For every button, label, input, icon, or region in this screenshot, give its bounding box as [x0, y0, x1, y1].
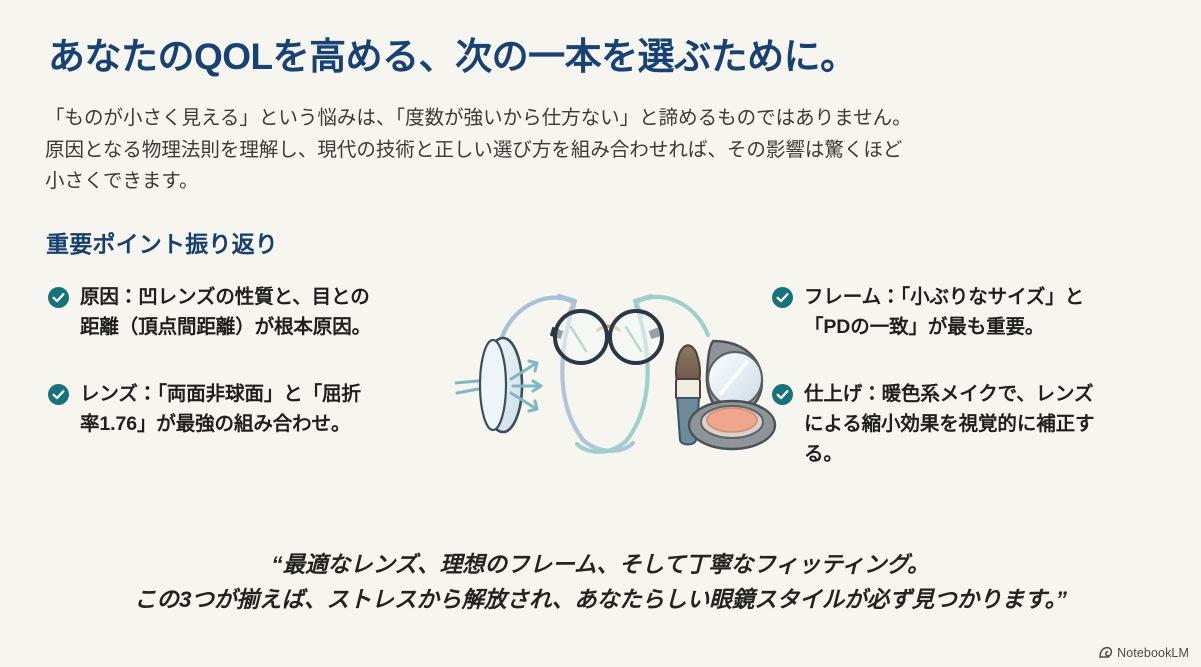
bullet-line: る。 — [804, 440, 1094, 470]
notebooklm-watermark: NotebookLM — [1098, 645, 1189, 660]
makeup-compact-icon — [689, 341, 775, 449]
concave-lens-icon — [455, 338, 541, 432]
bullet-item: レンズ：「両面非球面」と「屈折 率1.76」が最強の組み合わせ。 — [48, 380, 448, 439]
lens-glasses-makeup-illustration — [455, 275, 785, 470]
bullet-item: 仕上げ：暖色系メイクで、レンズ による縮小効果を視覚的に補正す る。 — [772, 380, 1172, 469]
eyeglasses-icon — [551, 311, 662, 363]
bullet-text: レンズ：「両面非球面」と「屈折 率1.76」が最強の組み合わせ。 — [80, 380, 361, 439]
closing-quote: “最適なレンズ、理想のフレーム、そして丁寧なフィッティング。 この3つが揃えば、… — [0, 548, 1201, 618]
lead-paragraph: 「ものが小さく見える」という悩みは、「度数が強いから仕方ない」と諦めるものではあ… — [45, 103, 1135, 198]
slide-root: あなたのQOLを高める、次の一本を選ぶために。 「ものが小さく見える」という悩み… — [0, 0, 1201, 667]
notebooklm-icon — [1098, 645, 1113, 660]
bullet-column-left: 原因：凹レンズの性質と、目との 距離（頂点間距離）が根本原因。 レンズ：「両面非… — [48, 283, 448, 468]
bullet-line: 「PDの一致」が最も重要。 — [804, 313, 1084, 343]
lead-line-3: 小さくできます。 — [45, 166, 1135, 198]
lead-line-2: 原因となる物理法則を理解し、現代の技術と正しい選び方を組み合わせれば、その影響は… — [45, 135, 1135, 167]
bullet-item: フレーム：「小ぶりなサイズ」と 「PDの一致」が最も重要。 — [772, 283, 1172, 342]
bullet-line: 距離（頂点間距離）が根本原因。 — [80, 313, 371, 343]
section-heading: 重要ポイント振り返り — [46, 225, 278, 259]
check-circle-icon — [48, 287, 69, 308]
quote-line-2: この3つが揃えば、ストレスから解放され、あなたらしい眼鏡スタイルが必ず見つかりま… — [0, 583, 1201, 618]
notebooklm-label: NotebookLM — [1117, 646, 1189, 660]
bullet-text: 原因：凹レンズの性質と、目との 距離（頂点間距離）が根本原因。 — [80, 283, 371, 342]
bullet-line: 原因：凹レンズの性質と、目との — [80, 283, 371, 313]
bullet-line: 仕上げ：暖色系メイクで、レンズ — [804, 380, 1094, 410]
bullet-text: フレーム：「小ぶりなサイズ」と 「PDの一致」が最も重要。 — [804, 283, 1084, 342]
check-circle-icon — [48, 384, 69, 405]
bullet-line: による縮小効果を視覚的に補正す — [804, 410, 1094, 440]
lead-line-1: 「ものが小さく見える」という悩みは、「度数が強いから仕方ない」と諦めるものではあ… — [45, 103, 1135, 135]
bullet-column-right: フレーム：「小ぶりなサイズ」と 「PDの一致」が最も重要。 仕上げ：暖色系メイク… — [772, 283, 1172, 497]
quote-line-1: “最適なレンズ、理想のフレーム、そして丁寧なフィッティング。 — [0, 548, 1201, 583]
bullet-text: 仕上げ：暖色系メイクで、レンズ による縮小効果を視覚的に補正す る。 — [804, 380, 1094, 469]
bullet-line: フレーム：「小ぶりなサイズ」と — [804, 283, 1084, 313]
page-title: あなたのQOLを高める、次の一本を選ぶために。 — [48, 36, 857, 79]
bullet-line: レンズ：「両面非球面」と「屈折 — [80, 380, 361, 410]
bullet-item: 原因：凹レンズの性質と、目との 距離（頂点間距離）が根本原因。 — [48, 283, 448, 342]
bullet-line: 率1.76」が最強の組み合わせ。 — [80, 410, 361, 440]
